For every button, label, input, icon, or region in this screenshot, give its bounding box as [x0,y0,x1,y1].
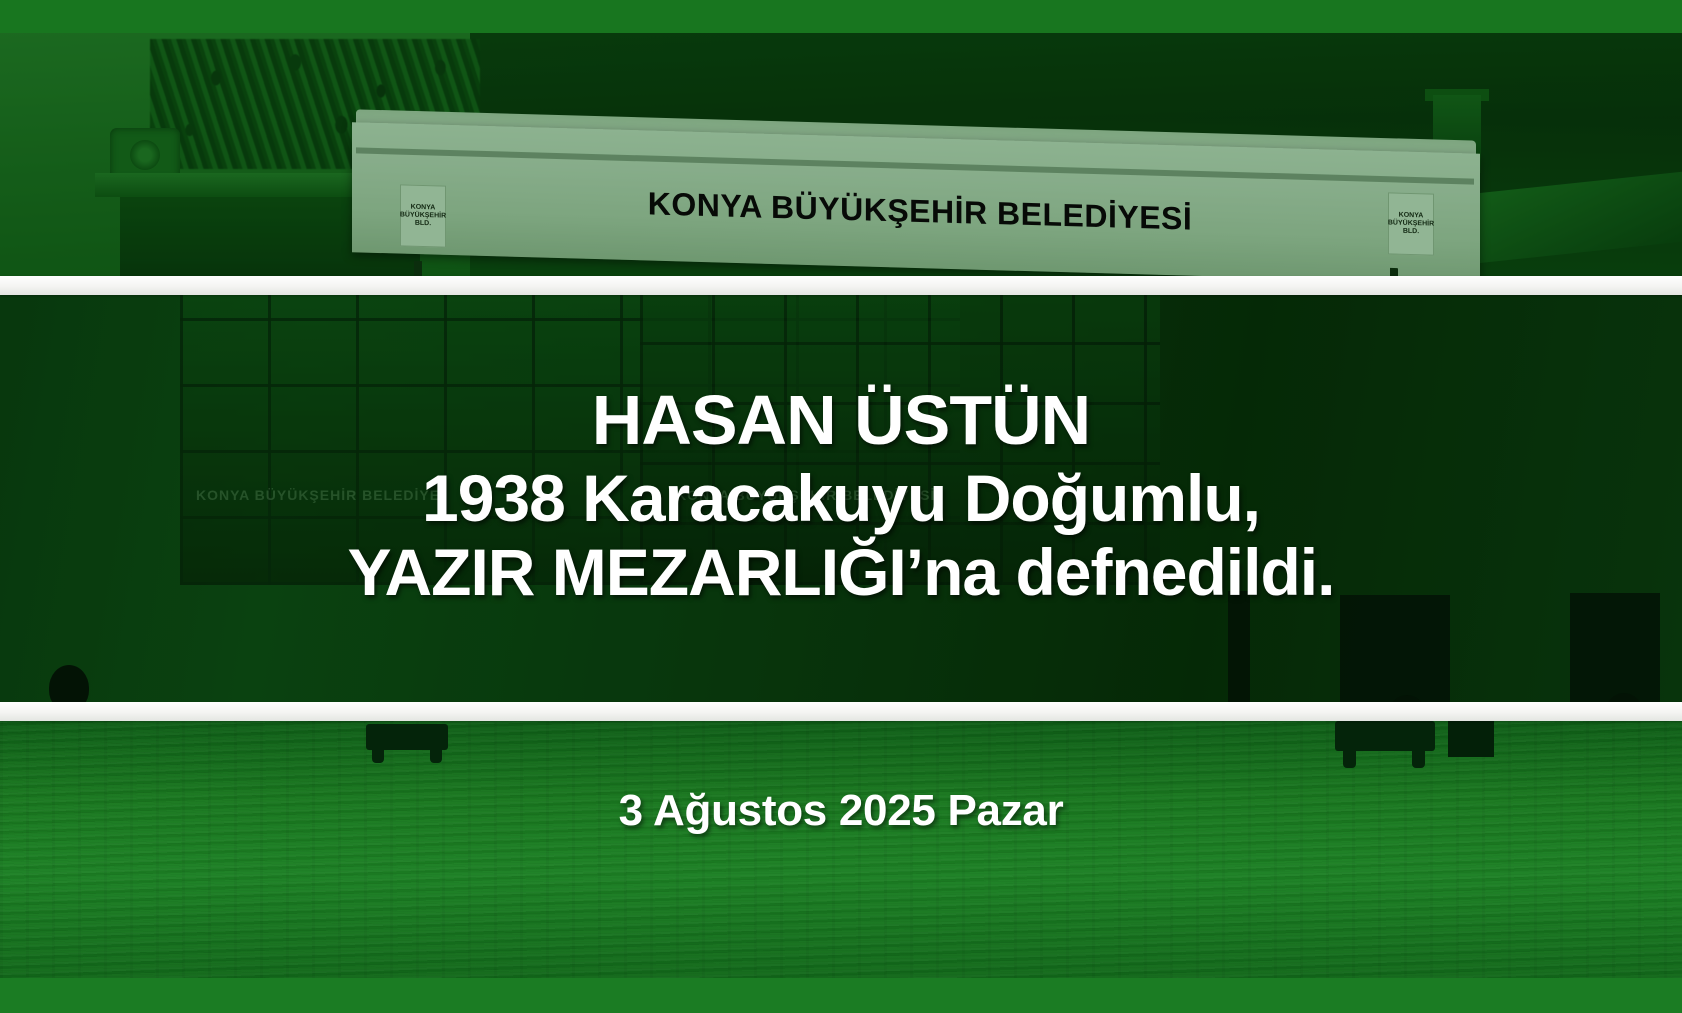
green-tint-overlay-top [0,33,1682,276]
divider-top [0,276,1682,295]
divider-bottom [0,702,1682,721]
announcement-text-block: HASAN ÜSTÜN 1938 Karacakuyu Doğumlu, YAZ… [0,295,1682,702]
funeral-date: 3 Ağustos 2025 Pazar [619,786,1064,836]
date-text-block: 3 Ağustos 2025 Pazar [0,721,1682,901]
vehicle-photo-band: KONYA BÜYÜKŞEHİR BLD. KONYA BÜYÜKŞEHİR B… [0,33,1682,276]
funeral-announcement-card: KONYA BÜYÜKŞEHİR BLD. KONYA BÜYÜKŞEHİR B… [0,0,1682,1013]
bottom-green-strip [0,978,1682,1013]
deceased-name: HASAN ÜSTÜN [592,383,1090,457]
date-band: 3 Ağustos 2025 Pazar [0,721,1682,978]
birth-info-line: 1938 Karacakuyu Doğumlu, [422,464,1260,534]
burial-info-line: YAZIR MEZARLIĞI’na defnedildi. [348,538,1335,608]
top-green-strip [0,0,1682,33]
